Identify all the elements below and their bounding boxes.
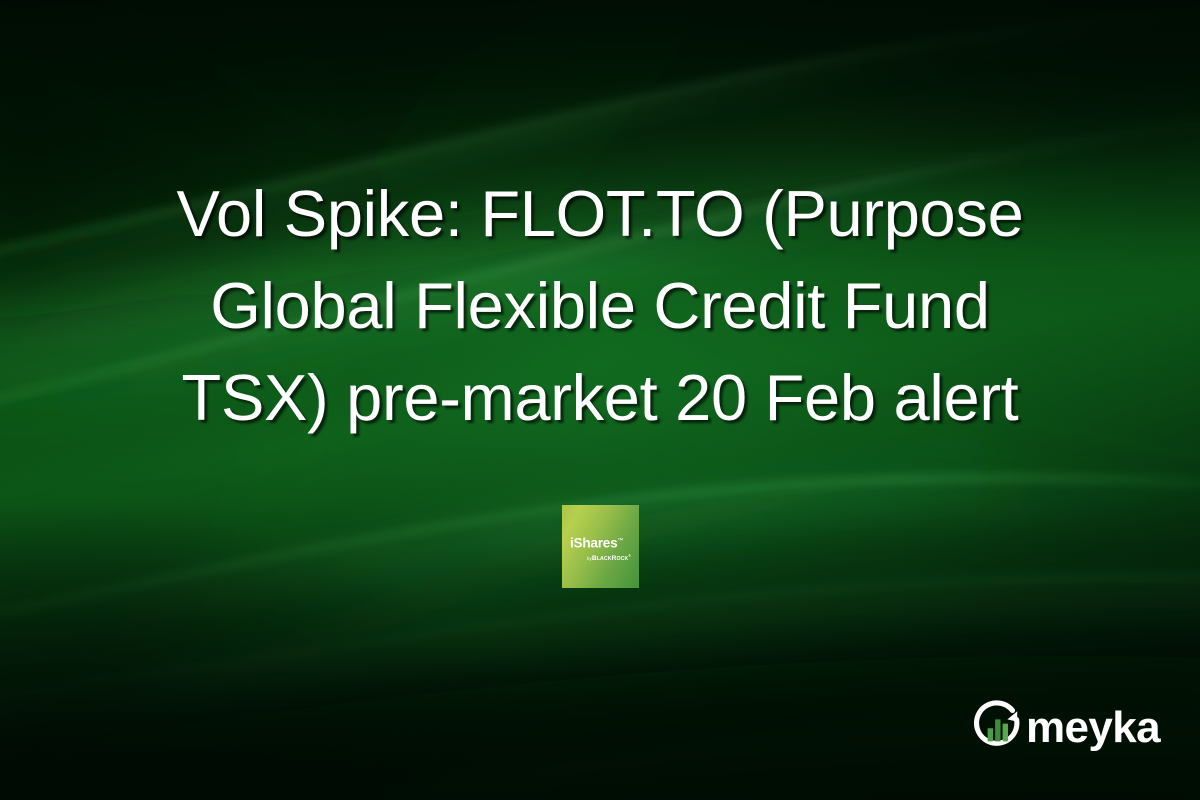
- headline-title: Vol Spike: FLOT.TO (Purpose Global Flexi…: [0, 168, 1200, 444]
- headline-line-3: TSX) pre-market 20 Feb alert: [54, 352, 1146, 444]
- ishares-blackrock-logo: iShares™ byBLACKROCK®: [562, 505, 639, 588]
- logo-bar-3: [1003, 724, 1008, 742]
- blackrock-registered-icon: ®: [628, 554, 631, 558]
- meyka-circular-bar-chart-logo-icon: [972, 700, 1026, 754]
- meyka-wordmark: meyka: [1026, 706, 1160, 750]
- headline-line-2: Global Flexible Credit Fund: [54, 260, 1146, 352]
- alert-card: Vol Spike: FLOT.TO (Purpose Global Flexi…: [0, 0, 1200, 800]
- headline-line-1: Vol Spike: FLOT.TO (Purpose: [54, 168, 1146, 260]
- logo-bar-2: [995, 719, 1000, 741]
- blackrock-ock: OCK: [617, 555, 629, 561]
- ishares-wordmark: iShares™: [570, 534, 639, 551]
- logo-bar-1: [988, 728, 993, 741]
- meyka-brand-lockup[interactable]: meyka: [972, 698, 1160, 756]
- blackrock-byline: byBLACKROCK®: [570, 553, 639, 563]
- ishares-wordmark-text: iShares: [570, 536, 617, 551]
- blackrock-lack: LACK: [597, 555, 612, 561]
- ishares-trademark-icon: ™: [617, 538, 623, 544]
